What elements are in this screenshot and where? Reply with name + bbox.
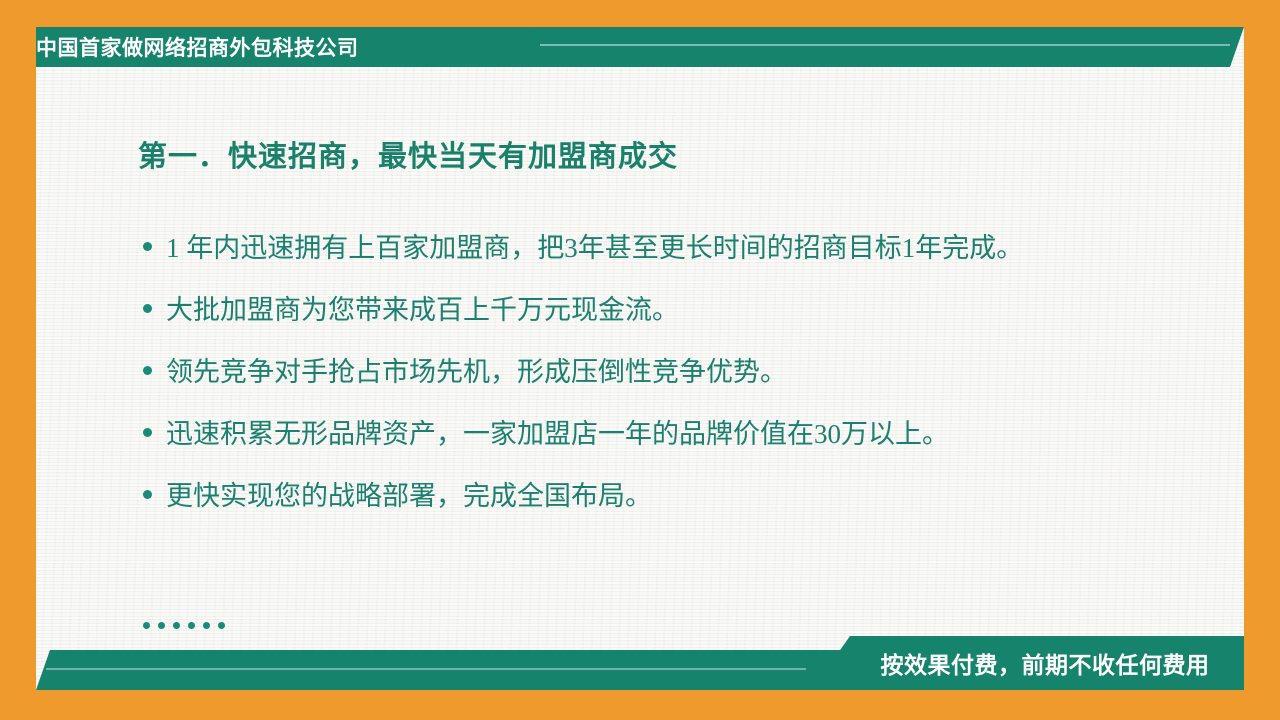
list-item: 大批加盟商为您带来成百上千万元现金流。 (143, 294, 1213, 326)
bullet-dot-icon (143, 304, 152, 313)
header-divider-line (540, 44, 1230, 46)
footer-tagline: 按效果付费，前期不收任何费用 (812, 636, 1244, 690)
ellipsis-dot-icon (203, 622, 210, 629)
slide-canvas: 中国首家做网络招商外包科技公司 第一．快速招商，最快当天有加盟商成交 1 年内迅… (0, 0, 1280, 720)
ellipsis-dot-icon (188, 622, 195, 629)
bullet-text: 领先竞争对手抢占市场先机，形成压倒性竞争优势。 (166, 356, 787, 388)
bullet-dot-icon (143, 490, 152, 499)
list-item: 1 年内迅速拥有上百家加盟商，把3年甚至更长时间的招商目标1年完成。 (143, 232, 1213, 264)
header-title-text: 中国首家做网络招商外包科技公司 (36, 32, 359, 62)
ellipsis-marker (143, 622, 225, 629)
bullet-dot-icon (143, 242, 152, 251)
list-item: 领先竞争对手抢占市场先机，形成压倒性竞争优势。 (143, 356, 1213, 388)
ellipsis-dot-icon (143, 622, 150, 629)
bullet-dot-icon (143, 428, 152, 437)
ellipsis-dot-icon (218, 622, 225, 629)
bullet-text: 大批加盟商为您带来成百上千万元现金流。 (166, 294, 679, 326)
header-title: 中国首家做网络招商外包科技公司 (36, 27, 506, 67)
list-item: 迅速积累无形品牌资产，一家加盟店一年的品牌价值在30万以上。 (143, 418, 1213, 450)
bullet-list: 1 年内迅速拥有上百家加盟商，把3年甚至更长时间的招商目标1年完成。 大批加盟商… (143, 232, 1213, 542)
ellipsis-dot-icon (173, 622, 180, 629)
footer-divider-line (46, 668, 806, 670)
list-item: 更快实现您的战略部署，完成全国布局。 (143, 480, 1213, 512)
bullet-dot-icon (143, 366, 152, 375)
bullet-text: 迅速积累无形品牌资产，一家加盟店一年的品牌价值在30万以上。 (166, 418, 949, 450)
bullet-text: 1 年内迅速拥有上百家加盟商，把3年甚至更长时间的招商目标1年完成。 (166, 232, 1023, 264)
footer-tagline-text: 按效果付费，前期不收任何费用 (881, 646, 1210, 680)
bullet-text: 更快实现您的战略部署，完成全国布局。 (166, 480, 652, 512)
page-title: 第一．快速招商，最快当天有加盟商成交 (138, 133, 678, 175)
ellipsis-dot-icon (158, 622, 165, 629)
